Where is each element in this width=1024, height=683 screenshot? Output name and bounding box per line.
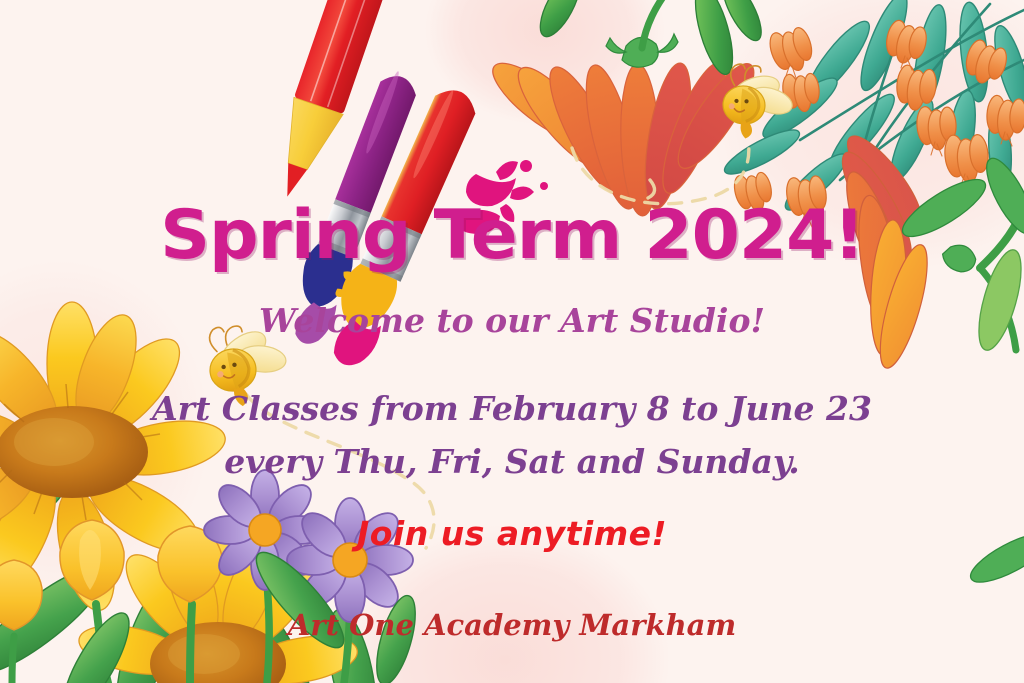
garden-bottom-left bbox=[0, 0, 1024, 683]
poster-canvas: Spring Term 2024! Welcome to our Art Stu… bbox=[0, 0, 1024, 683]
